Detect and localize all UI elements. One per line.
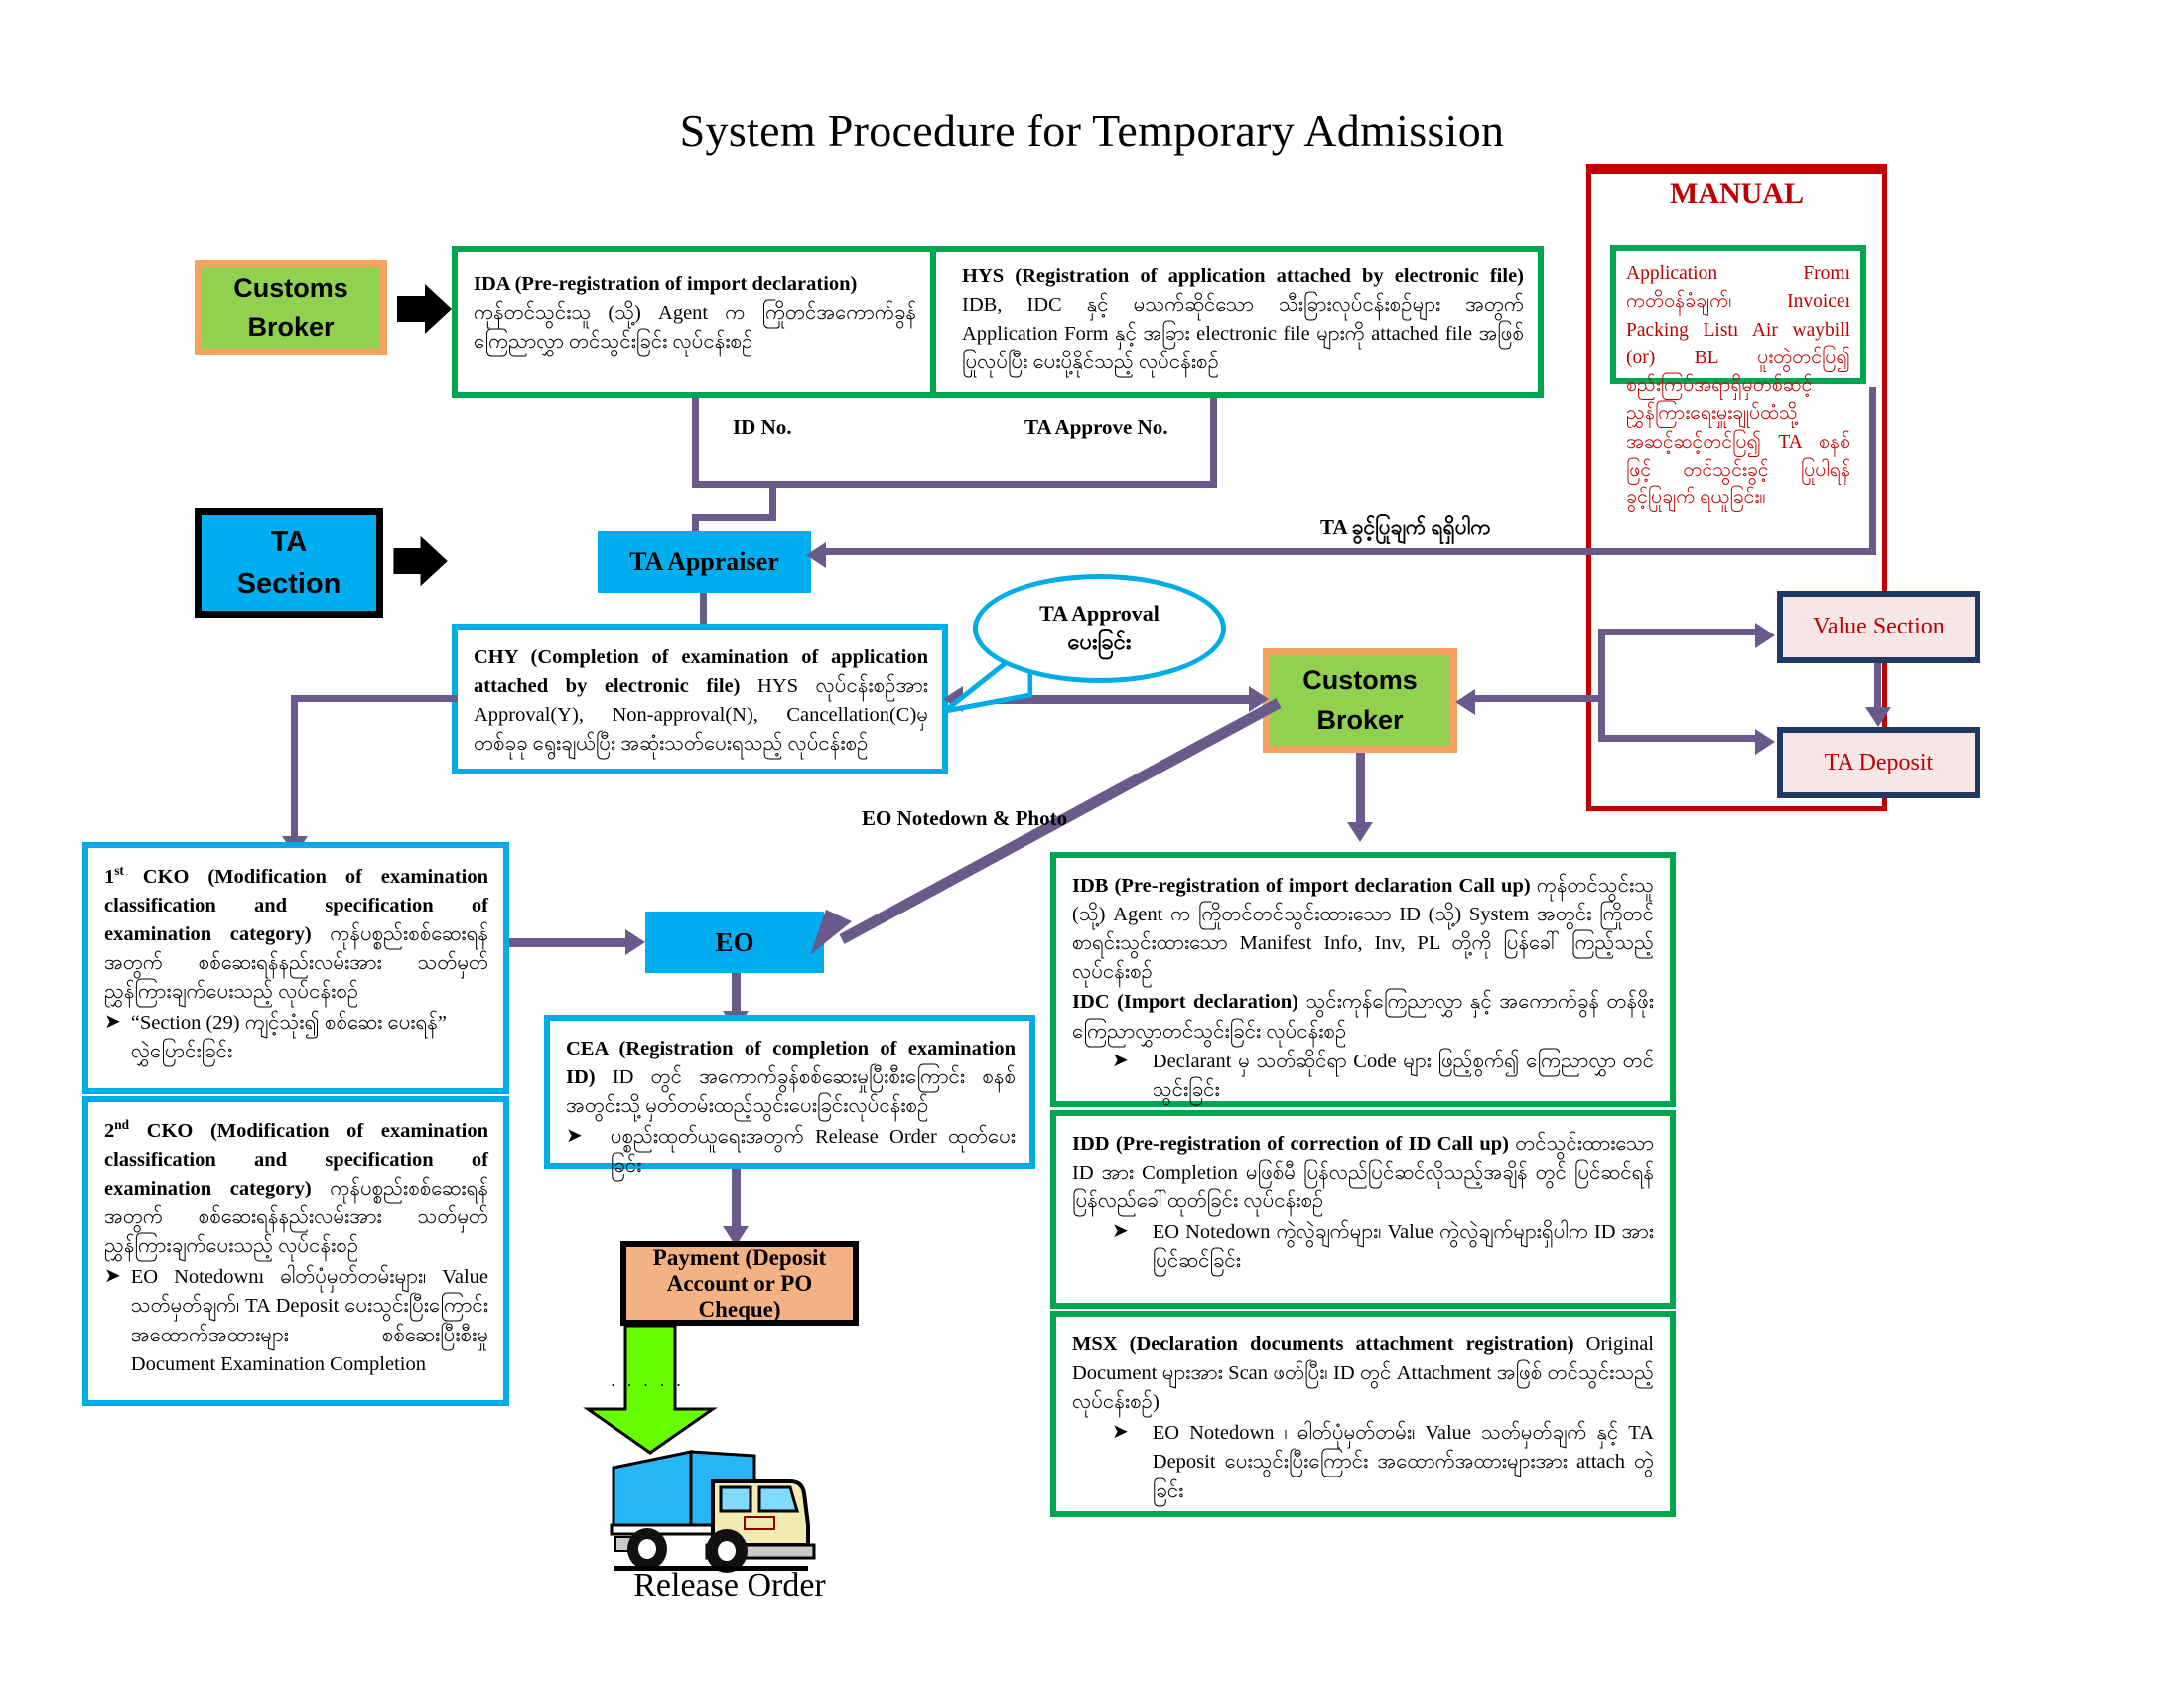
ta-approval-callout: TA Approval ပေးခြင်း <box>973 574 1226 683</box>
edge-manual-down <box>1869 387 1876 553</box>
ida-box[interactable]: IDA (Pre-registration of import declarat… <box>458 252 936 392</box>
edge-ida-down <box>692 398 699 488</box>
hys-body: IDB, IDC နှင့် မသက်ဆိုင်သော သီးခြားလုပ်င… <box>962 294 1524 373</box>
cko1-sup-mark: st <box>114 863 124 878</box>
msx-head: MSX (Declaration documents attachment re… <box>1072 1334 1574 1355</box>
cko2-box[interactable]: 2nd CKO (Modification of examination cla… <box>82 1096 509 1406</box>
ta-appraiser-label: TA Appraiser <box>629 547 778 577</box>
cko2-bullet-1: EO Notedownı ဓါတ်ပုံမှတ်တမ်းများ၊ Value … <box>131 1263 488 1378</box>
eo-label: EO <box>715 927 753 958</box>
msx-box[interactable]: MSX (Declaration documents attachment re… <box>1050 1311 1676 1517</box>
manual-content-box: Application Fromı ကတိဝန်ခံချက်၊ Invoiceı… <box>1610 245 1866 384</box>
callout-line1: TA Approval <box>1039 600 1160 629</box>
idc-head: IDC (Import declaration) <box>1072 991 1298 1013</box>
edge-branch-to-broker <box>1472 695 1603 702</box>
msx-bullet-1: EO Notedown ၊ ဓါတ်ပုံမှတ်တမ်း၊ Value သတ်… <box>1139 1419 1654 1505</box>
value-section-box[interactable]: Value Section <box>1777 591 1980 663</box>
idb-bullet-1: Declarant မှ သတ်ဆိုင်ရာ Code များ ဖြည့်စ… <box>1139 1048 1654 1105</box>
cea-bullet-1: ပစ္စည်းထုတ်ယူရေးအတွက် Release Order ထုတ်… <box>593 1123 1016 1181</box>
cko1-sup-number: 1 <box>104 866 114 888</box>
arrowhead-value-to-deposit <box>1865 707 1891 727</box>
edge-label-ta-permission: TA ခွင့်ပြုချက် ရရှိပါက <box>1320 514 1491 545</box>
edge-hys-down <box>1210 398 1217 488</box>
edge-chy-left-v <box>291 695 298 844</box>
edge-to-appraiser-h <box>692 514 776 521</box>
bullet-arrow-icon: ➤ <box>1072 1218 1129 1276</box>
bullet-arrow-icon: ➤ <box>1072 1048 1129 1105</box>
block-arrow-tasection-to-appraiser <box>392 532 450 590</box>
edge-broker-to-idb <box>1356 753 1365 827</box>
cko1-box[interactable]: 1st CKO (Modification of examination cla… <box>82 842 509 1094</box>
ida-head: IDA (Pre-registration of import declarat… <box>474 273 857 295</box>
idd-bullet-1: EO Notedown ကွဲလွဲချက်များ၊ Value ကွဲလွဲ… <box>1139 1218 1654 1276</box>
payment-label-1: Payment (Deposit <box>653 1245 826 1271</box>
arrowhead-broker-to-idb <box>1347 822 1373 842</box>
customs-broker-left[interactable]: Customs Broker <box>195 260 387 355</box>
edge-cko1-to-eo <box>509 938 631 947</box>
arrowhead-into-appraiser <box>806 542 826 568</box>
edge-branch-to-deposit <box>1598 735 1759 742</box>
page-title: System Procedure for Temporary Admission <box>0 104 2184 157</box>
payment-box[interactable]: Payment (Deposit Account or PO Cheque) <box>620 1241 859 1326</box>
edge-branch-vertical <box>1598 629 1605 738</box>
cko2-sup-number: 2 <box>104 1120 114 1142</box>
ta-deposit-box[interactable]: TA Deposit <box>1777 727 1980 798</box>
edge-label-eo-notedown-photo: EO Notedown & Photo <box>862 806 1067 831</box>
arrowhead-to-broker <box>1455 689 1475 715</box>
edge-cea-to-payment <box>732 1169 741 1233</box>
edge-label-ta-approve-no: TA Approve No. <box>1024 415 1168 440</box>
bullet-arrow-icon: ➤ <box>1072 1419 1129 1505</box>
arrowhead-to-value <box>1755 623 1775 648</box>
edge-chy-left-h <box>291 695 458 702</box>
idd-head: IDD (Pre-registration of correction of I… <box>1072 1133 1509 1155</box>
hys-box[interactable]: HYS (Registration of application attache… <box>948 252 1538 392</box>
ta-deposit-label: TA Deposit <box>1825 750 1933 776</box>
edge-value-to-deposit <box>1874 663 1881 713</box>
callout-line2: ပေးခြင်း <box>1068 629 1132 657</box>
customs-broker-left-label-2: Broker <box>247 308 334 347</box>
block-arrow-broker-to-ida <box>395 280 455 338</box>
edge-manual-to-appraiser-h <box>824 548 1876 555</box>
eo-box[interactable]: EO <box>645 912 824 973</box>
customs-broker-right-label-2: Broker <box>1316 701 1403 740</box>
release-order-label: Release Order <box>556 1567 903 1605</box>
customs-broker-right[interactable]: Customs Broker <box>1263 648 1457 753</box>
arrowhead-to-deposit <box>1755 729 1775 755</box>
release-arrow-dots: · · · · · <box>588 1375 707 1396</box>
customs-broker-left-label-1: Customs <box>233 269 348 308</box>
manual-heading: MANUAL <box>1586 177 1887 211</box>
ta-appraiser-box[interactable]: TA Appraiser <box>598 531 811 593</box>
payment-label-2: Account or PO Cheque) <box>626 1271 853 1323</box>
customs-broker-right-label-1: Customs <box>1302 661 1418 700</box>
idd-box[interactable]: IDD (Pre-registration of correction of I… <box>1050 1110 1676 1309</box>
idb-head: IDB (Pre-registration of import declarat… <box>1072 875 1531 897</box>
hys-head: HYS (Registration of application attache… <box>962 265 1524 287</box>
manual-body-text: Application Fromı ကတိဝန်ခံချက်၊ Invoiceı… <box>1626 260 1850 512</box>
idb-idc-box[interactable]: IDB (Pre-registration of import declarat… <box>1050 852 1676 1107</box>
bullet-arrow-icon: ➤ <box>104 1263 121 1378</box>
ta-section-label-1: TA <box>271 521 308 563</box>
cko2-sup-mark: nd <box>114 1117 129 1132</box>
bullet-arrow-icon: ➤ <box>566 1123 583 1181</box>
edge-label-id-no: ID No. <box>733 415 792 440</box>
cko1-bullet-1: “Section (29) ကျင့်သုံး၍ စစ်ဆေး ပေးရန်” … <box>131 1009 488 1066</box>
truck-icon <box>596 1430 864 1574</box>
ta-section-box[interactable]: TA Section <box>195 508 383 618</box>
bullet-arrow-icon: ➤ <box>104 1009 121 1066</box>
arrowhead-cko1-to-eo <box>625 929 645 955</box>
ta-section-label-2: Section <box>237 563 341 605</box>
edge-branch-to-value <box>1598 629 1759 635</box>
cea-box[interactable]: CEA (Registration of completion of exami… <box>544 1015 1035 1169</box>
cea-body: ID တွင် အကောက်ခွန်စစ်ဆေးမှုပြီးစီးကြောင်… <box>566 1066 1016 1117</box>
ida-body: ကုန်တင်သွင်းသူ (သို့) Agent က ကြိုတင်အကေ… <box>474 299 916 356</box>
value-section-label: Value Section <box>1813 614 1945 640</box>
